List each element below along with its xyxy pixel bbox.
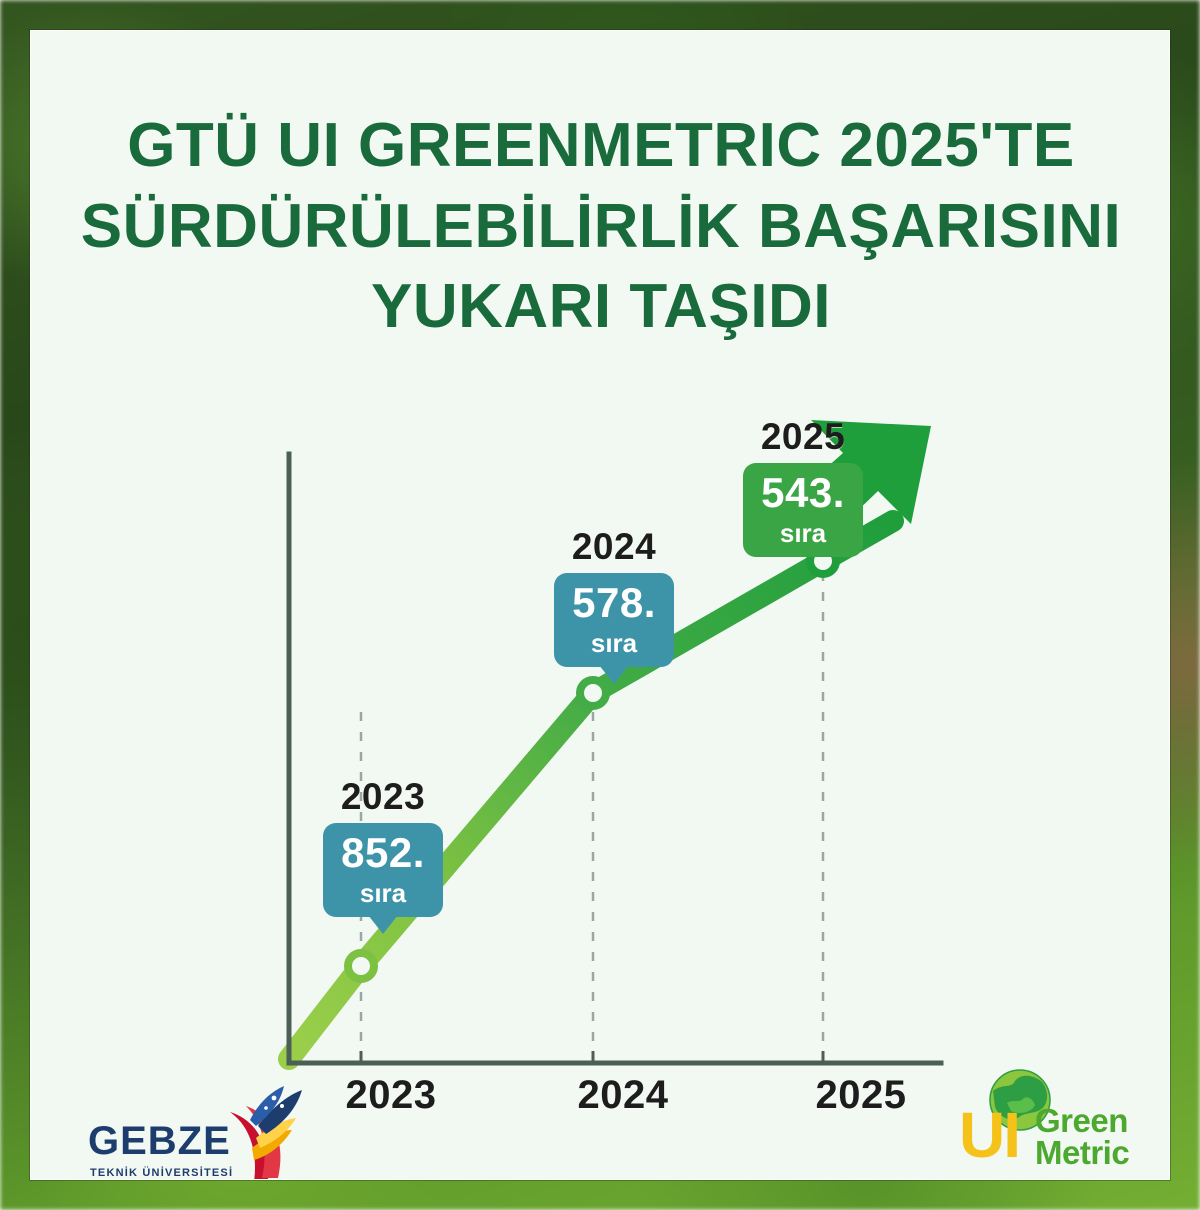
greenmetric-tagline: World University Rankings	[959, 1179, 1113, 1180]
rank-bubble-2024: 578. sıra	[554, 573, 674, 667]
greenmetric-ui-text: UI	[959, 1103, 1019, 1167]
rank-word-2023: sıra	[341, 880, 425, 906]
x-axis-label-2023: 2023	[311, 1073, 471, 1118]
rank-value-2025: 543.	[761, 472, 845, 514]
ui-greenmetric-logo: UI Green Metric World University Ranking…	[947, 1069, 1147, 1180]
callout-year-2025: 2025	[723, 416, 883, 458]
x-axis-label-2024: 2024	[543, 1073, 703, 1118]
rank-bubble-2025: 543. sıra	[743, 463, 863, 557]
callout-2025: 2025 543. sıra	[723, 416, 883, 557]
title-line-2: SÜRDÜRÜLEBİLİRLİK BAŞARISINI	[71, 187, 1131, 268]
rank-word-2024: sıra	[572, 630, 656, 656]
gebze-university-logo: GEBZE TEKNİK ÜNİVERSİTESİ	[86, 1091, 306, 1180]
callout-2024: 2024 578. sıra	[534, 526, 694, 667]
callout-2023: 2023 852. sıra	[303, 776, 463, 917]
title-line-1: GTÜ UI GREENMETRIC 2025'TE	[71, 106, 1131, 187]
ranking-line-chart	[31, 391, 1170, 1111]
rank-bubble-2023: 852. sıra	[323, 823, 443, 917]
gebze-emblem-icon	[216, 1086, 306, 1180]
greenmetric-green-text: Green	[1035, 1105, 1129, 1137]
page-title: GTÜ UI GREENMETRIC 2025'TE SÜRDÜRÜLEBİLİ…	[71, 106, 1131, 348]
greenmetric-wordmark: Green Metric	[1035, 1105, 1129, 1170]
x-axis-label-2025: 2025	[781, 1073, 941, 1118]
rank-word-2025: sıra	[761, 520, 845, 546]
gebze-logo-name: GEBZE	[88, 1119, 231, 1164]
title-line-3: YUKARI TAŞIDI	[71, 267, 1131, 348]
callout-year-2024: 2024	[534, 526, 694, 568]
greenmetric-metric-text: Metric	[1035, 1137, 1129, 1169]
callout-year-2023: 2023	[303, 776, 463, 818]
rank-value-2023: 852.	[341, 832, 425, 874]
poster-card: GTÜ UI GREENMETRIC 2025'TE SÜRDÜRÜLEBİLİ…	[30, 30, 1170, 1180]
rank-value-2024: 578.	[572, 582, 656, 624]
gebze-logo-subtitle: TEKNİK ÜNİVERSİTESİ	[90, 1167, 233, 1179]
